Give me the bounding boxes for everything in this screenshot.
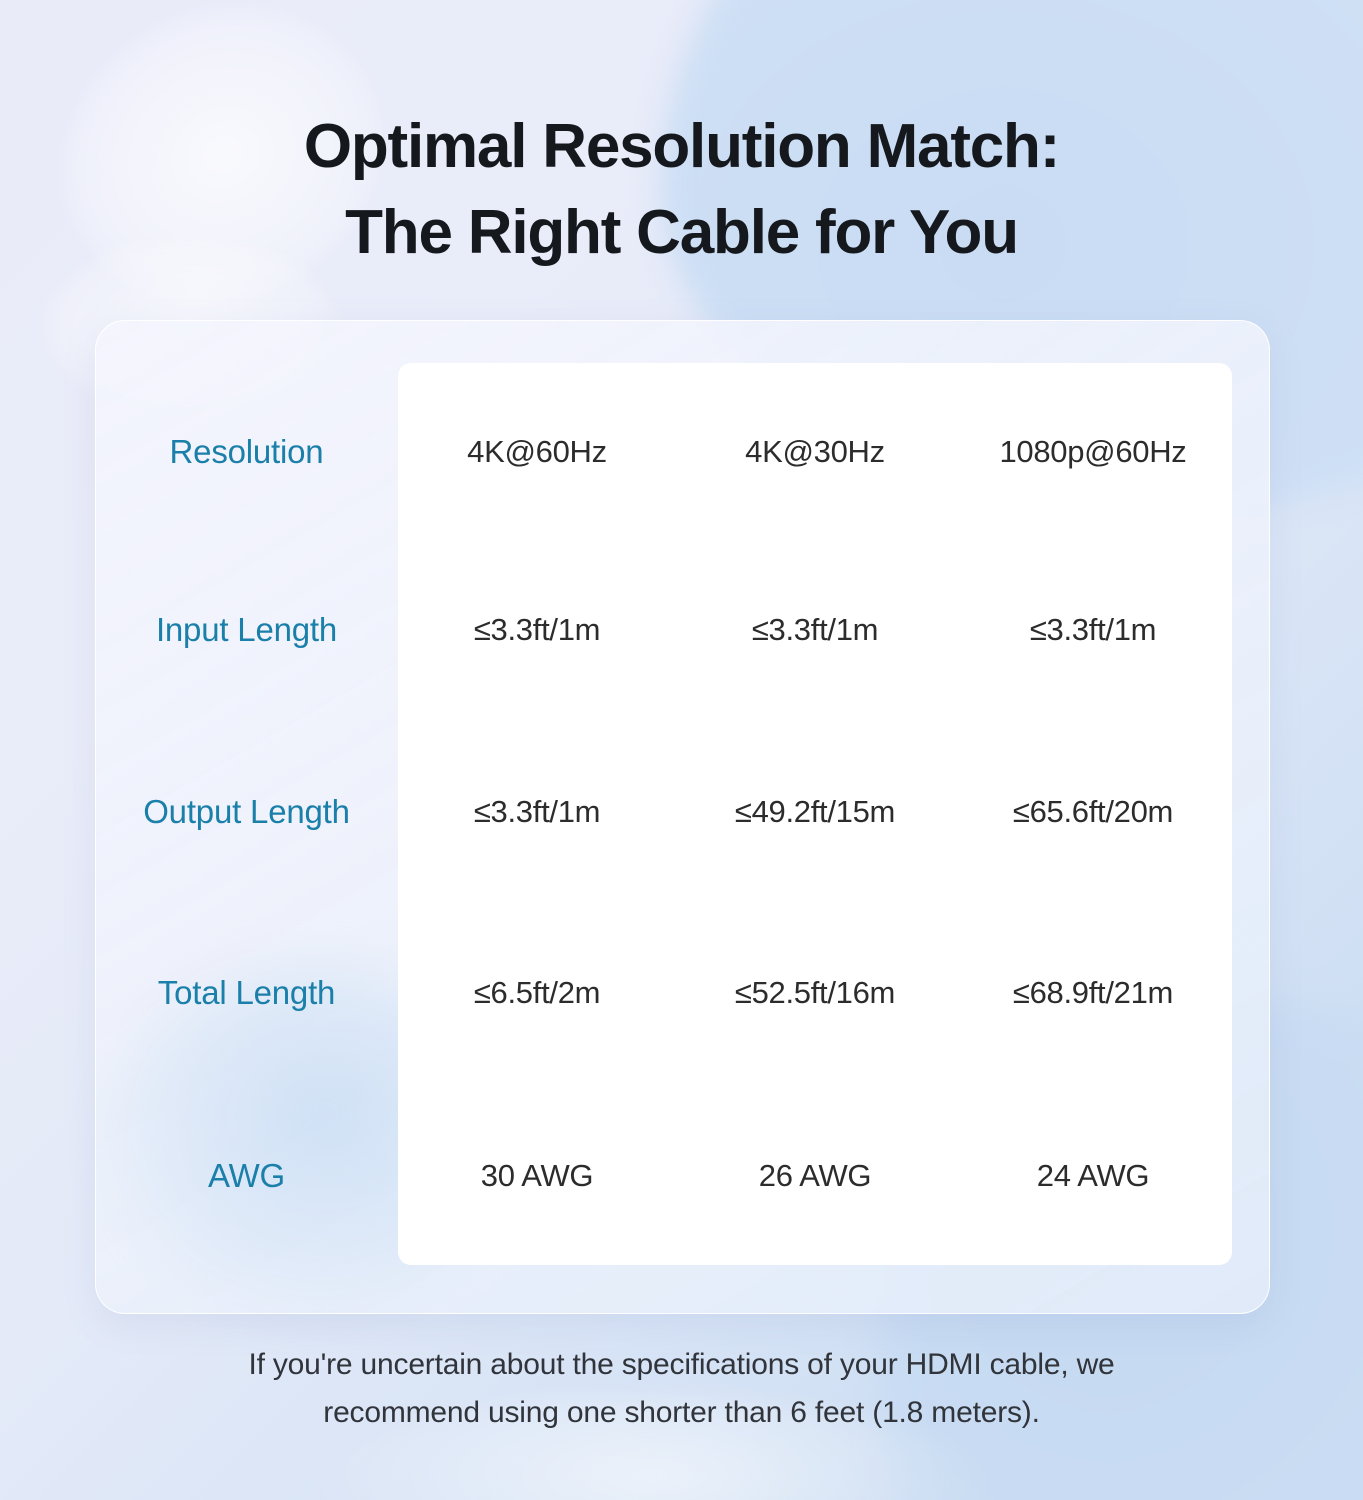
infographic-canvas: Optimal Resolution Match: The Right Cabl… <box>0 0 1363 1500</box>
cell-input-length-col1: ≤3.3ft/1m <box>398 598 676 662</box>
cell-output-length-col2: ≤49.2ft/15m <box>676 780 954 844</box>
page-title-line-2: The Right Cable for You <box>0 190 1363 276</box>
cell-resolution-col1: 4K@60Hz <box>398 420 676 484</box>
page-title-line-1: Optimal Resolution Match: <box>0 104 1363 190</box>
cell-total-length-col1: ≤6.5ft/2m <box>398 961 676 1025</box>
page-title: Optimal Resolution Match: The Right Cabl… <box>0 104 1363 276</box>
row-label-awg: AWG <box>95 1144 398 1208</box>
row-label-total-length: Total Length <box>95 961 398 1025</box>
cell-awg-col3: 24 AWG <box>954 1144 1232 1208</box>
cell-awg-col2: 26 AWG <box>676 1144 954 1208</box>
spec-comparison-table: Resolution 4K@60Hz 4K@30Hz 1080p@60Hz In… <box>95 320 1268 1312</box>
footnote-line-1: If you're uncertain about the specificat… <box>0 1341 1363 1389</box>
table-row: Resolution 4K@60Hz 4K@30Hz 1080p@60Hz <box>95 420 1268 484</box>
cell-output-length-col3: ≤65.6ft/20m <box>954 780 1232 844</box>
cell-awg-col1: 30 AWG <box>398 1144 676 1208</box>
cell-total-length-col3: ≤68.9ft/21m <box>954 961 1232 1025</box>
footnote: If you're uncertain about the specificat… <box>0 1341 1363 1437</box>
cell-output-length-col1: ≤3.3ft/1m <box>398 780 676 844</box>
table-row: Total Length ≤6.5ft/2m ≤52.5ft/16m ≤68.9… <box>95 961 1268 1025</box>
row-label-input-length: Input Length <box>95 598 398 662</box>
table-row: Output Length ≤3.3ft/1m ≤49.2ft/15m ≤65.… <box>95 780 1268 844</box>
row-label-resolution: Resolution <box>95 420 398 484</box>
cell-resolution-col3: 1080p@60Hz <box>954 420 1232 484</box>
cell-input-length-col2: ≤3.3ft/1m <box>676 598 954 662</box>
cell-input-length-col3: ≤3.3ft/1m <box>954 598 1232 662</box>
table-row: Input Length ≤3.3ft/1m ≤3.3ft/1m ≤3.3ft/… <box>95 598 1268 662</box>
cell-total-length-col2: ≤52.5ft/16m <box>676 961 954 1025</box>
cell-resolution-col2: 4K@30Hz <box>676 420 954 484</box>
footnote-line-2: recommend using one shorter than 6 feet … <box>0 1389 1363 1437</box>
row-label-output-length: Output Length <box>95 780 398 844</box>
table-row: AWG 30 AWG 26 AWG 24 AWG <box>95 1144 1268 1208</box>
